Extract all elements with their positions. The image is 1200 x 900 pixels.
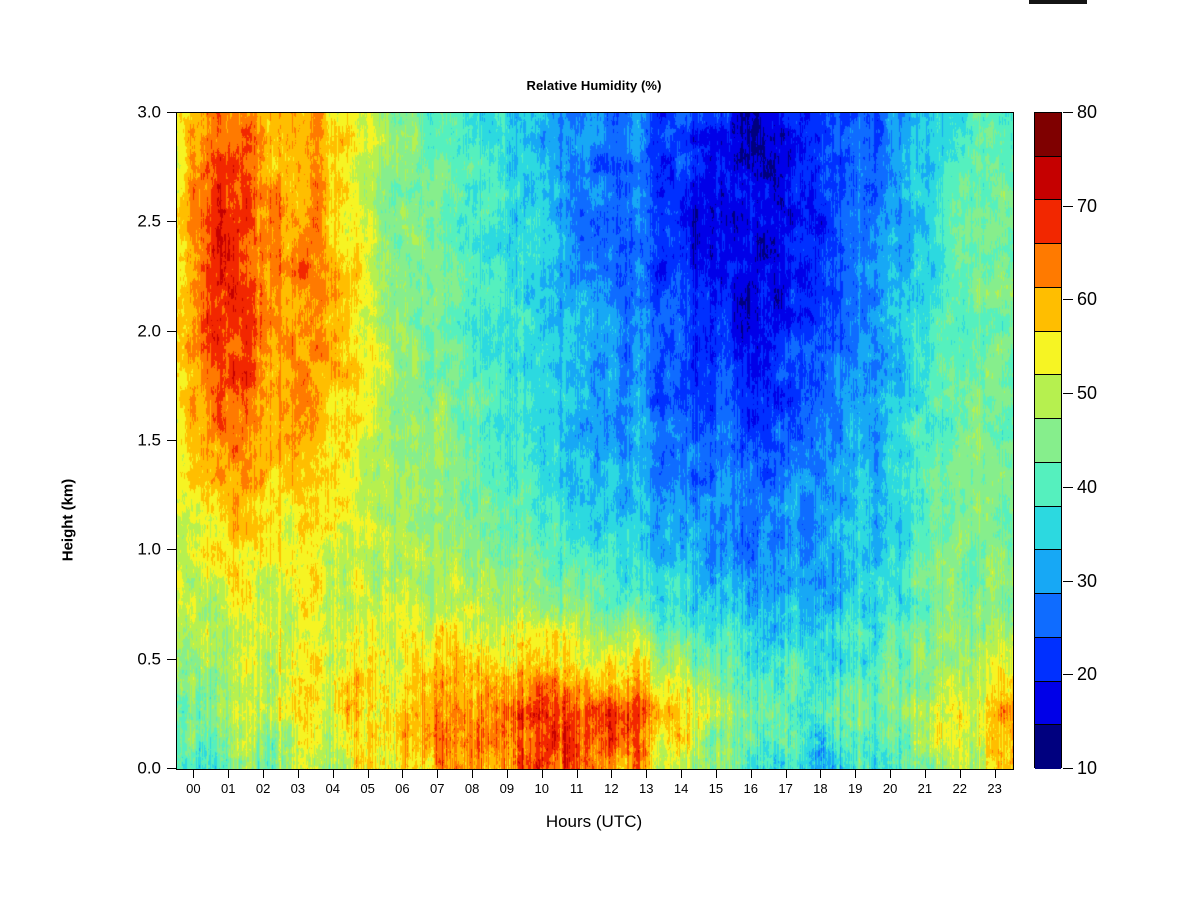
x-axis-tick [646,769,647,778]
y-axis-tick-label: 0.0 [115,760,161,777]
colorbar-band [1035,113,1061,157]
y-axis-tick-label: 3.0 [115,104,161,121]
x-axis-tick-label: 23 [975,782,1015,795]
x-axis-tick [507,769,508,778]
y-axis-tick [167,549,176,550]
y-axis-tick-label: 1.0 [115,541,161,558]
x-axis-label: Hours (UTC) [176,812,1012,832]
x-axis-tick [437,769,438,778]
colorbar-tick-label: 20 [1077,665,1097,683]
x-axis-tick [577,769,578,778]
y-axis-tick [167,221,176,222]
x-axis-tick [298,769,299,778]
y-axis-tick [167,440,176,441]
colorbar-tick [1063,487,1073,488]
colorbar [1034,112,1062,768]
colorbar-band [1035,200,1061,244]
colorbar-tick [1063,112,1073,113]
colorbar-band [1035,332,1061,376]
colorbar-band [1035,419,1061,463]
x-axis-tick [193,769,194,778]
y-axis-tick [167,768,176,769]
colorbar-tick-label: 50 [1077,384,1097,402]
heatmap-plot-area [176,112,1014,770]
x-axis-tick [263,769,264,778]
x-axis-tick [960,769,961,778]
colorbar-tick-label: 80 [1077,103,1097,121]
y-axis-tick-label: 2.0 [115,322,161,339]
colorbar-band [1035,682,1061,726]
y-axis-label-container: Height (km) [56,440,80,600]
x-axis-tick [786,769,787,778]
relative-humidity-figure: Relative Humidity (%) 0.00.51.01.52.02.5… [0,0,1200,900]
colorbar-band [1035,375,1061,419]
colorbar-tick [1063,768,1073,769]
colorbar-tick [1063,581,1073,582]
x-axis-tick [751,769,752,778]
x-axis-tick [333,769,334,778]
colorbar-tick [1063,206,1073,207]
y-axis-tick-label: 1.5 [115,432,161,449]
y-axis-tick-label: 0.5 [115,650,161,667]
colorbar-tick [1063,299,1073,300]
y-axis-tick [167,331,176,332]
colorbar-band [1035,507,1061,551]
colorbar-band [1035,463,1061,507]
x-axis-tick [228,769,229,778]
y-axis-label: Height (km) [60,479,77,562]
colorbar-tick-label: 60 [1077,290,1097,308]
colorbar-band [1035,288,1061,332]
page-title: Relative Humidity (%) [176,78,1012,93]
x-axis-tick [820,769,821,778]
relative-humidity-heatmap-canvas [177,113,1013,769]
y-axis-tick [167,659,176,660]
colorbar-band [1035,550,1061,594]
y-axis-tick [167,112,176,113]
x-axis-tick [402,769,403,778]
x-axis-tick [472,769,473,778]
x-axis-tick [681,769,682,778]
x-axis-tick [925,769,926,778]
colorbar-tick-label: 10 [1077,759,1097,777]
x-axis-tick [995,769,996,778]
y-axis-tick-label: 2.5 [115,213,161,230]
x-axis-tick [716,769,717,778]
x-axis-tick [368,769,369,778]
x-axis-tick [855,769,856,778]
colorbar-band [1035,244,1061,288]
x-axis-tick [890,769,891,778]
x-axis-tick [542,769,543,778]
colorbar-band [1035,157,1061,201]
colorbar-tick [1063,674,1073,675]
colorbar-band [1035,725,1061,769]
colorbar-tick-label: 40 [1077,478,1097,496]
colorbar-band [1035,594,1061,638]
colorbar-tick-label: 70 [1077,197,1097,215]
x-axis-tick [611,769,612,778]
colorbar-tick-label: 30 [1077,572,1097,590]
colorbar-tick [1063,393,1073,394]
colorbar-band [1035,638,1061,682]
top-edge-artifact-bar [1029,0,1087,4]
